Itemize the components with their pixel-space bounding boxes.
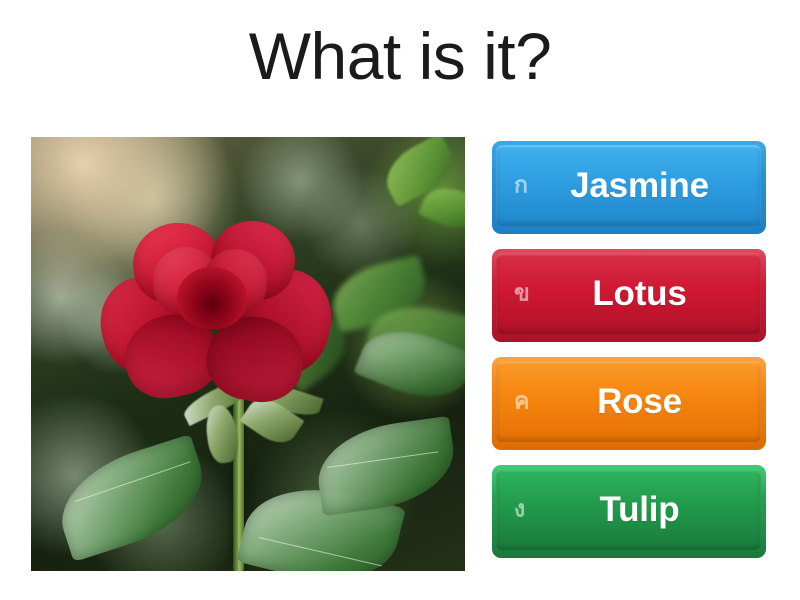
rose-center <box>177 267 247 329</box>
answer-label-d: Tulip <box>496 490 761 530</box>
answer-option-b-face: ข Lotus <box>496 253 761 334</box>
rose-bloom <box>99 219 327 404</box>
rose-photo-icon <box>31 137 465 571</box>
answer-letter-a: ก <box>514 174 528 197</box>
answer-label-b: Lotus <box>496 274 761 314</box>
question-image-container <box>31 137 465 571</box>
foreground-leaf <box>47 434 216 562</box>
answer-option-c[interactable]: ค Rose <box>492 357 766 450</box>
answer-letter-d: ง <box>514 498 525 521</box>
answer-option-d[interactable]: ง Tulip <box>492 465 766 558</box>
answer-option-b[interactable]: ข Lotus <box>492 249 766 342</box>
page-title: What is it? <box>0 14 800 98</box>
answer-option-a-face: ก Jasmine <box>496 145 761 226</box>
answer-letter-b: ข <box>514 282 530 305</box>
answer-option-a[interactable]: ก Jasmine <box>492 141 766 234</box>
answer-label-a: Jasmine <box>496 166 761 206</box>
answer-letter-c: ค <box>514 390 529 413</box>
answer-list: ก Jasmine ข Lotus ค Rose ง Tulip <box>492 141 766 558</box>
answer-label-c: Rose <box>496 382 761 422</box>
answer-option-c-face: ค Rose <box>496 361 761 442</box>
answer-option-d-face: ง Tulip <box>496 469 761 550</box>
